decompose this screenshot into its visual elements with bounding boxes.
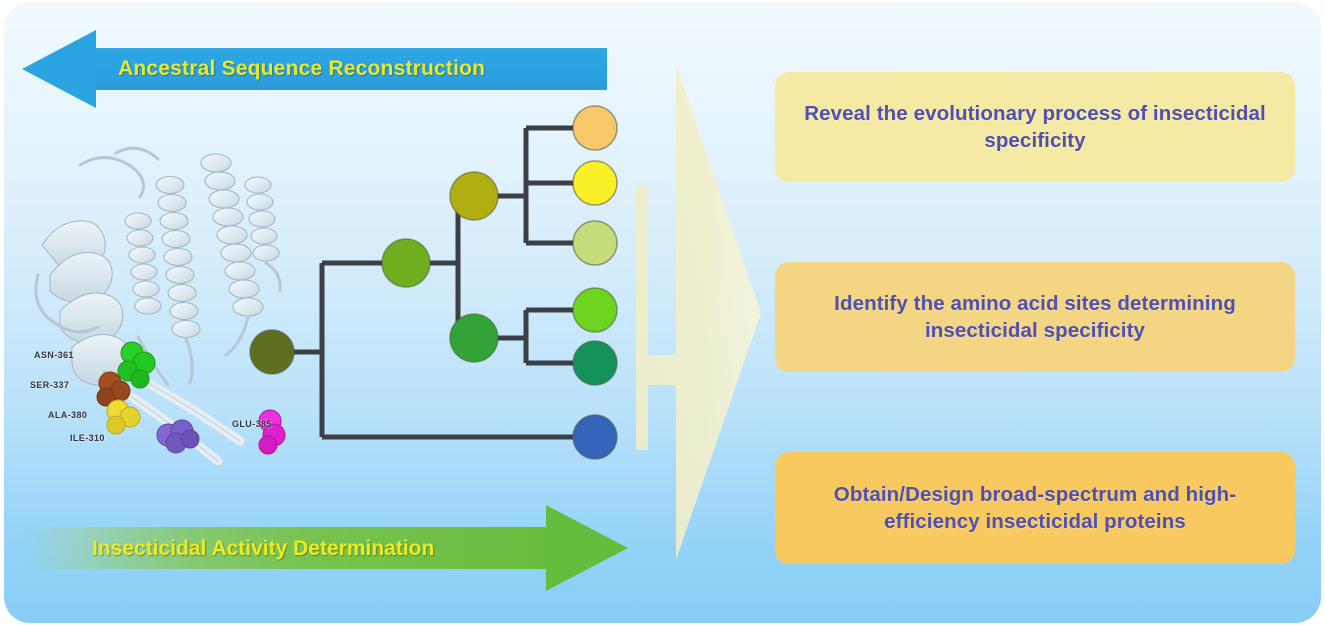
center-arrow-svg: [630, 55, 770, 575]
residue-ile: [157, 420, 199, 453]
arrow-head-left-icon: [22, 30, 96, 108]
tree-node-tip2: [573, 161, 617, 205]
outcome-text-2: Identify the amino acid sites determinin…: [775, 290, 1295, 344]
tree-node-anc3: [450, 314, 498, 362]
residue-label-asn: ASN-361: [34, 350, 74, 360]
residue-label-ala: ALA-380: [48, 410, 87, 420]
graphical-abstract-canvas: Ancestral Sequence Reconstruction: [0, 0, 1325, 625]
outcome-box-2: Identify the amino acid sites determinin…: [775, 262, 1295, 372]
tree-node-anc2: [450, 172, 498, 220]
outcome-box-1: Reveal the evolutionary process of insec…: [775, 72, 1295, 182]
tree-node-anc1: [382, 239, 430, 287]
phylogenetic-tree: [240, 85, 640, 485]
top-arrow-label: Ancestral Sequence Reconstruction: [118, 54, 588, 84]
center-transition-arrow: [630, 55, 770, 575]
tree-nodes: [250, 106, 617, 459]
outcome-box-3: Obtain/Design broad-spectrum and high-ef…: [775, 452, 1295, 564]
tree-node-tip1: [573, 106, 617, 150]
tree-node-tip5: [573, 341, 617, 385]
outcome-text-1: Reveal the evolutionary process of insec…: [775, 100, 1295, 154]
tree-node-tip6: [573, 415, 617, 459]
phylogenetic-tree-svg: [240, 85, 640, 485]
insecticidal-activity-determination-arrow: Insecticidal Activity Determination: [22, 505, 632, 591]
tree-node-tip3: [573, 221, 617, 265]
tree-node-tip4: [573, 288, 617, 332]
tree-node-root: [250, 330, 294, 374]
residue-ala: [107, 400, 140, 434]
bottom-arrow-label: Insecticidal Activity Determination: [92, 535, 562, 563]
residue-label-ser: SER-337: [30, 380, 69, 390]
outcome-text-3: Obtain/Design broad-spectrum and high-ef…: [775, 481, 1295, 535]
residue-label-ile: ILE-310: [70, 433, 105, 443]
tree-edges: [292, 128, 575, 437]
